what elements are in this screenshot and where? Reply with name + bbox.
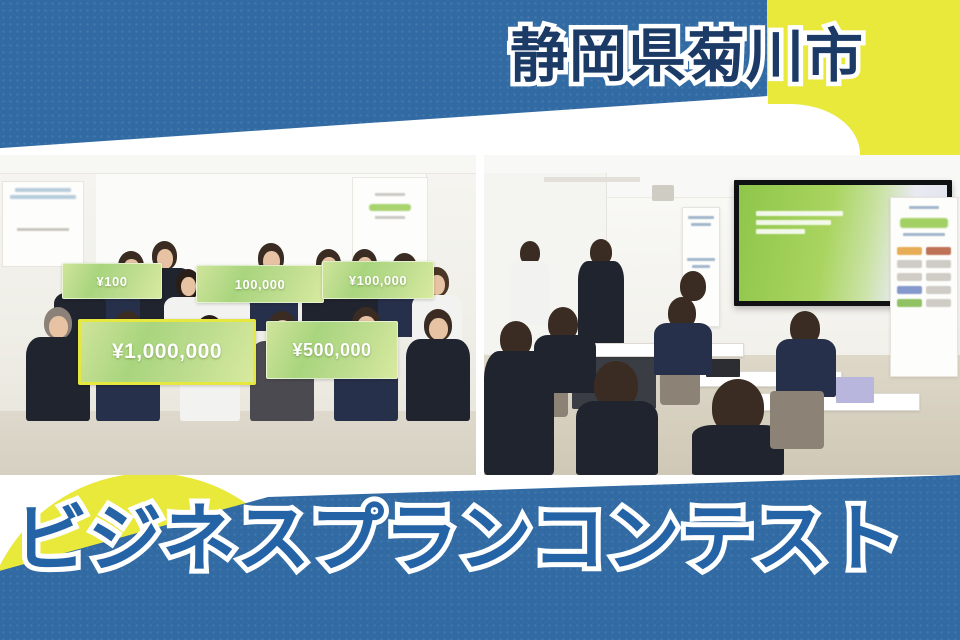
sponsor-logo [926,299,951,307]
sponsor-logo [926,273,951,281]
center-banner-logo [369,204,412,211]
page-title-city: 静岡県菊川市 [510,28,864,86]
sponsor-logo [926,260,951,268]
sponsor-logo [897,286,922,294]
prize-board-amount: ¥100 [97,274,128,289]
prize-board-first-place: ¥1,000,000 [78,319,256,385]
center-banner-subline [375,193,405,196]
backdrop-banner-line [15,188,71,192]
photo-divider [476,155,484,475]
sponsor-banner [890,197,958,377]
tablet-screen [836,377,874,403]
center-banner-subline [375,216,405,219]
projector-mount [652,185,674,201]
sponsor-banner-logo [900,218,949,228]
presenter-body [578,261,624,345]
banner-graphic: 静岡県菊川市 [0,0,960,640]
banner-line [688,216,713,219]
sponsor-logo [897,273,922,281]
sponsor-logo [897,299,922,307]
backdrop-banner-line [17,228,68,231]
prize-board-amount: 100,000 [235,277,286,292]
sponsor-logo [897,247,922,255]
backdrop-banner-line [10,195,76,199]
ceiling-rail [544,177,640,182]
banner-line [691,223,712,226]
banner-line [687,258,714,261]
banner-line [692,265,710,268]
banner-line [903,233,945,236]
slide-text-lines [756,211,843,238]
prize-board-small: 100,000 [196,265,324,303]
page-title-contest: ビジネスプランコンテスト [14,502,902,576]
photo-award-ceremony: ¥100 100,000 ¥100,000 [0,155,476,475]
sponsor-logo [926,286,951,294]
sponsor-logo-grid [897,247,951,307]
staff-body [510,261,550,325]
prize-board-small: ¥100,000 [322,261,434,299]
prize-board-amount: ¥100,000 [349,273,407,288]
photo-strip: ¥100 100,000 ¥100,000 [0,155,960,475]
sponsor-logo [926,247,951,255]
prize-board-second-place: ¥500,000 [266,321,398,379]
prize-board-small: ¥100 [62,263,162,299]
sponsor-logo [897,260,922,268]
photo-seminar-room [484,155,960,475]
backdrop-banner [2,181,84,267]
prize-board-amount: ¥500,000 [292,340,371,361]
prize-board-amount: ¥1,000,000 [112,340,222,364]
banner-line [909,206,939,209]
ceiling [0,155,476,174]
